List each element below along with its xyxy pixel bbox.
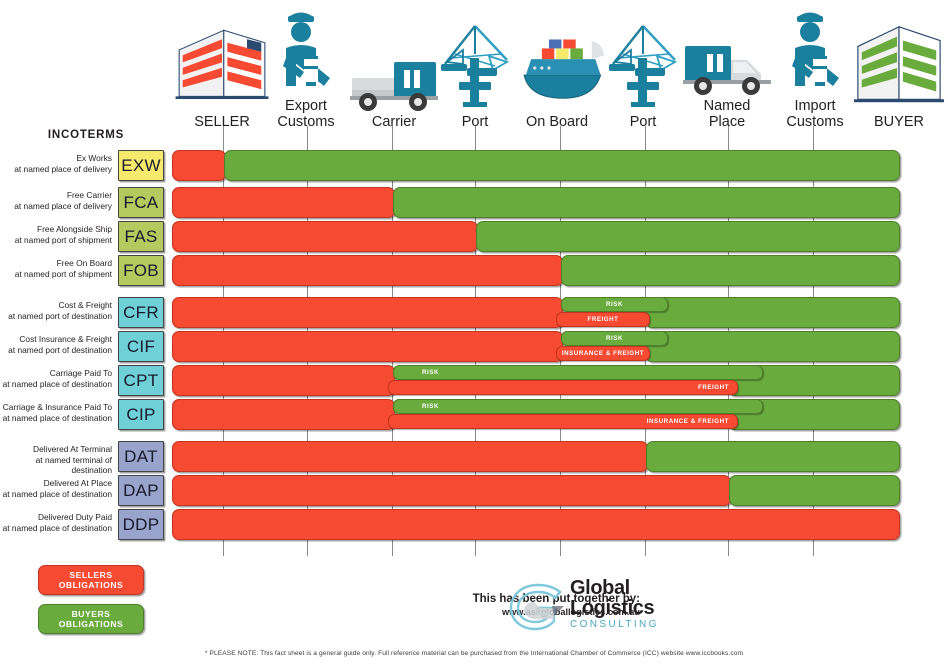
chart-header: SELLER Export Customs xyxy=(0,0,948,130)
row-label-fas: Free Alongside Shipat named port of ship… xyxy=(0,224,112,245)
incoterm-code-fca[interactable]: FCA xyxy=(118,187,164,218)
port-crane-icon xyxy=(430,20,520,112)
column-label-import_customs: Import Customs xyxy=(768,96,862,130)
incoterm-code-ddp[interactable]: DDP xyxy=(118,509,164,540)
column-label-on_board: On Board xyxy=(508,112,606,130)
column-header-import_customs: Import Customs xyxy=(768,4,862,130)
cost-transfer-bar: FREIGHT xyxy=(556,312,650,327)
customs-officer-icon xyxy=(258,4,354,96)
legend-item-sellers: SELLERSOBLIGATIONS xyxy=(38,565,144,595)
column-label-seller: SELLER xyxy=(172,112,272,130)
incoterm-code-exw[interactable]: EXW xyxy=(118,150,164,181)
factory-red-icon xyxy=(172,20,272,112)
column-label-export_customs: Export Customs xyxy=(258,96,354,130)
truck-blue-icon xyxy=(346,20,442,112)
seller-obligation-bar xyxy=(172,365,395,396)
logo-swirl-icon xyxy=(508,582,566,637)
seller-obligation-bar xyxy=(172,187,395,218)
seller-obligation-bar xyxy=(172,399,395,430)
logo-word-logistics: Logistics xyxy=(570,598,659,618)
column-header-carrier: Carrier xyxy=(346,20,442,130)
row-label-cpt: Carriage Paid Toat named place of destin… xyxy=(0,368,112,389)
factory-red-icon xyxy=(172,20,272,112)
incoterm-row-dat: Delivered At Terminalat named terminal o… xyxy=(0,441,948,471)
incoterm-code-cip[interactable]: CIP xyxy=(118,399,164,430)
port-crane-icon xyxy=(598,20,688,112)
legend-line-2: OBLIGATIONS xyxy=(59,619,124,629)
buyer-obligation-bar xyxy=(476,221,900,252)
legend-line-1: BUYERS xyxy=(72,609,111,619)
truck-delivery-icon xyxy=(681,34,773,96)
cargo-ship-icon xyxy=(508,20,606,112)
incoterm-row-fas: Free Alongside Shipat named port of ship… xyxy=(0,221,948,251)
column-header-seller: SELLER xyxy=(172,20,272,130)
seller-obligation-bar xyxy=(172,475,731,506)
risk-transfer-bar: RISK xyxy=(561,331,668,346)
incoterm-code-dap[interactable]: DAP xyxy=(118,475,164,506)
cost-transfer-bar: FREIGHT xyxy=(388,380,738,395)
risk-transfer-bar: RISK xyxy=(561,297,668,312)
row-label-cip: Carriage & Insurance Paid Toat named pla… xyxy=(0,402,112,423)
port-crane-icon xyxy=(605,20,681,112)
incoterm-code-fas[interactable]: FAS xyxy=(118,221,164,252)
column-header-export_customs: Export Customs xyxy=(258,4,354,130)
row-label-cfr: Cost & Freightat named port of destinati… xyxy=(0,300,112,321)
risk-transfer-bar: RISK xyxy=(393,399,763,414)
seller-obligation-bar xyxy=(172,441,648,472)
logo-wordmark: Global Logistics CONSULTING xyxy=(570,578,659,632)
column-header-port_in: Port xyxy=(598,20,688,130)
logo-word-global: Global xyxy=(570,578,659,598)
legend-line-2: OBLIGATIONS xyxy=(59,580,124,590)
column-header-port_out: Port xyxy=(430,20,520,130)
seller-obligation-bar xyxy=(172,297,563,328)
incoterm-code-fob[interactable]: FOB xyxy=(118,255,164,286)
column-header-named_place: Named Place xyxy=(678,4,776,130)
port-crane-icon xyxy=(437,20,513,112)
global-logistics-logo: Global Logistics CONSULTING xyxy=(508,578,708,636)
customs-officer-icon xyxy=(768,4,862,96)
page-title: INCOTERMS xyxy=(0,129,172,141)
customs-officer-icon xyxy=(274,8,338,96)
incoterm-row-cip: Carriage & Insurance Paid Toat named pla… xyxy=(0,399,948,429)
incoterms-matrix: Ex Worksat named place of deliveryEXWFre… xyxy=(0,150,948,560)
row-label-dap: Delivered At Placeat named place of dest… xyxy=(0,478,112,499)
cost-transfer-bar: INSURANCE & FREIGHT xyxy=(388,414,738,429)
factory-green-icon xyxy=(852,20,946,112)
incoterm-row-dap: Delivered At Placeat named place of dest… xyxy=(0,475,948,505)
column-label-named_place: Named Place xyxy=(678,96,776,130)
row-label-exw: Ex Worksat named place of delivery xyxy=(0,153,112,174)
column-header-on_board: On Board xyxy=(508,20,606,130)
legend: SELLERSOBLIGATIONSBUYERSOBLIGATIONS xyxy=(38,565,158,643)
buyer-obligation-bar xyxy=(729,475,900,506)
incoterm-row-cfr: Cost & Freightat named port of destinati… xyxy=(0,297,948,327)
seller-obligation-bar xyxy=(172,221,478,252)
column-label-port_in: Port xyxy=(598,112,688,130)
cargo-ship-icon xyxy=(508,24,606,112)
footnote: * PLEASE NOTE: This fact sheet is a gene… xyxy=(0,650,948,657)
risk-transfer-bar: RISK xyxy=(393,365,763,380)
incoterm-row-fob: Free On Boardat named port of shipmentFO… xyxy=(0,255,948,285)
legend-line-1: SELLERS xyxy=(69,570,112,580)
factory-green-icon xyxy=(852,20,946,112)
seller-obligation-bar xyxy=(172,150,226,181)
row-label-fob: Free On Boardat named port of shipment xyxy=(0,258,112,279)
incoterm-row-exw: Ex Worksat named place of deliveryEXW xyxy=(0,150,948,180)
row-label-ddp: Delivered Duty Paidat named place of des… xyxy=(0,512,112,533)
legend-item-buyers: BUYERSOBLIGATIONS xyxy=(38,604,144,634)
logo-word-consulting: CONSULTING xyxy=(570,618,659,632)
column-label-buyer: BUYER xyxy=(852,112,946,130)
seller-obligation-bar xyxy=(172,509,900,540)
column-label-carrier: Carrier xyxy=(346,112,442,130)
seller-obligation-bar xyxy=(172,331,563,362)
truck-blue-icon xyxy=(348,50,440,112)
buyer-obligation-bar xyxy=(646,441,900,472)
incoterm-row-cif: Cost Insurance & Freightat named port of… xyxy=(0,331,948,361)
seller-obligation-bar xyxy=(172,255,563,286)
row-label-dat: Delivered At Terminalat named terminal o… xyxy=(0,444,112,476)
incoterm-code-dat[interactable]: DAT xyxy=(118,441,164,472)
column-header-buyer: BUYER xyxy=(852,20,946,130)
incoterm-row-fca: Free Carrierat named place of deliveryFC… xyxy=(0,187,948,217)
buyer-obligation-bar xyxy=(561,255,900,286)
buyer-obligation-bar xyxy=(224,150,900,181)
row-label-fca: Free Carrierat named place of delivery xyxy=(0,190,112,211)
buyer-obligation-bar xyxy=(393,187,900,218)
customs-officer-icon xyxy=(783,8,847,96)
buyer-obligation-bar xyxy=(645,331,900,362)
truck-delivery-icon xyxy=(678,4,776,96)
incoterm-code-cfr[interactable]: CFR xyxy=(118,297,164,328)
row-label-cif: Cost Insurance & Freightat named port of… xyxy=(0,334,112,355)
buyer-obligation-bar xyxy=(645,297,900,328)
incoterm-row-cpt: Carriage Paid Toat named place of destin… xyxy=(0,365,948,395)
incoterm-code-cif[interactable]: CIF xyxy=(118,331,164,362)
incoterm-code-cpt[interactable]: CPT xyxy=(118,365,164,396)
incoterm-row-ddp: Delivered Duty Paidat named place of des… xyxy=(0,509,948,539)
cost-transfer-bar: INSURANCE & FREIGHT xyxy=(556,346,650,361)
